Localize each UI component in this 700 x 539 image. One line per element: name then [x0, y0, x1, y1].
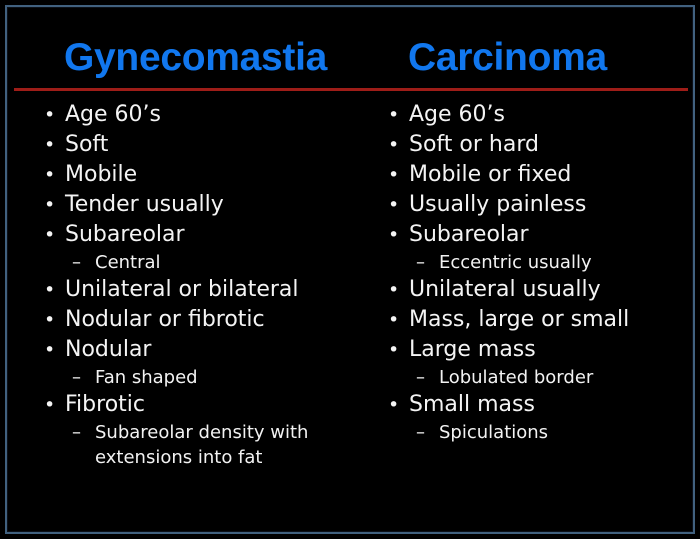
bullet-item-label: Age 60’s [65, 102, 161, 127]
bullet-item: •Soft [22, 130, 352, 160]
bullet-list-gynecomastia: •Age 60’s•Soft•Mobile•Tender usually•Sub… [22, 100, 352, 470]
bullet-item-label: Nodular or fibrotic [65, 307, 265, 332]
bullet-item: •Subareolar [366, 220, 696, 250]
bullet-item-label: Mobile [65, 162, 137, 187]
bullet-marker-icon: • [44, 190, 58, 220]
bullet-item-label: Subareolar density with extensions into … [95, 422, 308, 468]
bullet-item: •Mass, large or small [366, 305, 696, 335]
bullet-marker-icon: • [44, 335, 58, 365]
slide-canvas: Gynecomastia Carcinoma •Age 60’s•Soft•Mo… [0, 0, 700, 539]
bullet-marker-icon: • [388, 305, 402, 335]
bullet-item-label: Small mass [409, 392, 535, 417]
sub-bullet-item: –Spiculations [366, 420, 696, 445]
dash-marker-icon: – [72, 420, 88, 445]
bullet-item-label: Fibrotic [65, 392, 145, 417]
column-gynecomastia: •Age 60’s•Soft•Mobile•Tender usually•Sub… [22, 100, 352, 470]
bullet-item-label: Unilateral or bilateral [65, 277, 299, 302]
bullet-marker-icon: • [388, 390, 402, 420]
bullet-item-label: Spiculations [439, 422, 548, 443]
bullet-item: •Unilateral usually [366, 275, 696, 305]
sub-bullet-item: –Lobulated border [366, 365, 696, 390]
bullet-marker-icon: • [44, 160, 58, 190]
bullet-marker-icon: • [44, 130, 58, 160]
bullet-item-label: Nodular [65, 337, 151, 362]
bullet-item-label: Lobulated border [439, 367, 593, 388]
bullet-marker-icon: • [44, 305, 58, 335]
dash-marker-icon: – [72, 250, 88, 275]
bullet-marker-icon: • [44, 100, 58, 130]
bullet-item: •Small mass [366, 390, 696, 420]
bullet-marker-icon: • [388, 335, 402, 365]
bullet-marker-icon: • [44, 275, 58, 305]
bullet-item-label: Tender usually [65, 192, 224, 217]
bullet-item: •Mobile [22, 160, 352, 190]
bullet-item: •Large mass [366, 335, 696, 365]
bullet-item-label: Soft or hard [409, 132, 539, 157]
bullet-item: •Subareolar [22, 220, 352, 250]
titles-row: Gynecomastia Carcinoma [0, 34, 700, 86]
bullet-marker-icon: • [388, 130, 402, 160]
bullet-item-label: Mass, large or small [409, 307, 629, 332]
bullet-marker-icon: • [388, 190, 402, 220]
sub-bullet-item: –Eccentric usually [366, 250, 696, 275]
bullet-item: •Age 60’s [22, 100, 352, 130]
column-title-carcinoma: Carcinoma [408, 34, 607, 82]
bullet-item-label: Unilateral usually [409, 277, 601, 302]
column-carcinoma: •Age 60’s•Soft or hard•Mobile or fixed•U… [366, 100, 696, 445]
bullet-item-label: Eccentric usually [439, 252, 592, 273]
bullet-item: •Usually painless [366, 190, 696, 220]
bullet-marker-icon: • [388, 160, 402, 190]
bullet-item-label: Fan shaped [95, 367, 198, 388]
bullet-marker-icon: • [388, 275, 402, 305]
bullet-item-label: Mobile or fixed [409, 162, 571, 187]
title-divider-rule [14, 88, 688, 91]
column-title-gynecomastia: Gynecomastia [64, 34, 327, 82]
dash-marker-icon: – [416, 250, 432, 275]
bullet-item-label: Large mass [409, 337, 536, 362]
bullet-item-label: Subareolar [65, 222, 185, 247]
bullet-item-label: Central [95, 252, 161, 273]
bullet-marker-icon: • [44, 390, 58, 420]
bullet-item: •Tender usually [22, 190, 352, 220]
bullet-list-carcinoma: •Age 60’s•Soft or hard•Mobile or fixed•U… [366, 100, 696, 445]
bullet-item-label: Usually painless [409, 192, 586, 217]
bullet-marker-icon: • [388, 220, 402, 250]
sub-bullet-item: –Central [22, 250, 352, 275]
bullet-item: •Age 60’s [366, 100, 696, 130]
dash-marker-icon: – [416, 365, 432, 390]
bullet-item-label: Age 60’s [409, 102, 505, 127]
dash-marker-icon: – [72, 365, 88, 390]
sub-bullet-item: –Fan shaped [22, 365, 352, 390]
bullet-item: •Mobile or fixed [366, 160, 696, 190]
bullet-item-label: Soft [65, 132, 108, 157]
bullet-item: •Nodular [22, 335, 352, 365]
bullet-item: •Soft or hard [366, 130, 696, 160]
bullet-marker-icon: • [44, 220, 58, 250]
bullet-item: •Unilateral or bilateral [22, 275, 352, 305]
content-columns: •Age 60’s•Soft•Mobile•Tender usually•Sub… [0, 100, 700, 536]
bullet-item: •Nodular or fibrotic [22, 305, 352, 335]
bullet-marker-icon: • [388, 100, 402, 130]
dash-marker-icon: – [416, 420, 432, 445]
sub-bullet-item: –Subareolar density with extensions into… [22, 420, 352, 470]
bullet-item-label: Subareolar [409, 222, 529, 247]
bullet-item: •Fibrotic [22, 390, 352, 420]
